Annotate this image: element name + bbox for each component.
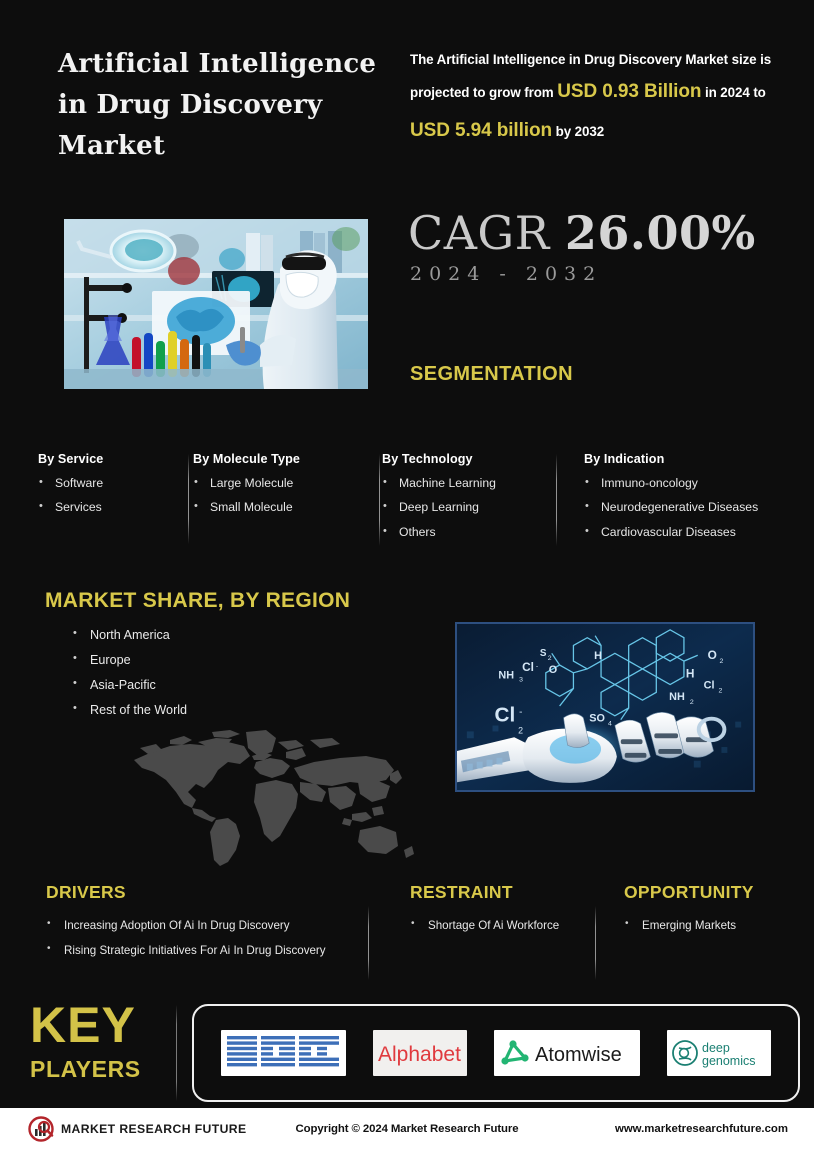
list-item: Small Molecule <box>193 501 373 514</box>
cagr-value: CAGR 26.00% <box>408 206 756 260</box>
list-item: Immuno-oncology <box>584 477 799 490</box>
cagr-percent: 26.00% <box>565 206 756 260</box>
blurb-part-3: by 2032 <box>556 124 604 139</box>
list-item: Machine Learning <box>382 477 572 490</box>
key-players-line2: PLAYERS <box>30 1056 170 1083</box>
infographic-page: Artificial Intelligence in Drug Discover… <box>0 0 814 1150</box>
atomwise-logo: Atomwise <box>494 1030 640 1076</box>
alphabet-logo: Alphabet <box>373 1030 467 1076</box>
svg-text:-: - <box>519 707 522 718</box>
copyright-text: Copyright © 2024 Market Research Future <box>296 1123 519 1135</box>
svg-text:-: - <box>536 663 538 670</box>
region-list: North America Europe Asia-Pacific Rest o… <box>72 628 187 728</box>
column-divider <box>368 906 369 980</box>
deep-genomics-logo: deep genomics <box>667 1030 771 1076</box>
list-item: Cardiovascular Diseases <box>584 526 799 539</box>
segmentation-heading: SEGMENTATION <box>410 363 573 386</box>
cagr-label: CAGR <box>408 206 550 260</box>
blurb-part-2: in 2024 to <box>705 85 766 100</box>
svg-text:NH: NH <box>498 670 514 682</box>
ibm-logo <box>221 1030 346 1076</box>
list-item: Deep Learning <box>382 501 572 514</box>
column-divider <box>556 454 557 546</box>
segment-list: Immuno-oncology Neurodegenerative Diseas… <box>584 477 799 539</box>
svg-text:H: H <box>686 668 695 681</box>
footer: MARKET RESEARCH FUTURE Copyright © 2024 … <box>0 1108 814 1150</box>
robotic-hand-image: NH 3 Cl - S 2 O H H O 2 Cl 2 NH 2 Cl - 2… <box>455 622 755 792</box>
drivers-column: DRIVERS Increasing Adoption Of Ai In Dru… <box>46 882 376 970</box>
segment-heading: By Molecule Type <box>193 452 373 466</box>
dro-heading: OPPORTUNITY <box>624 882 814 903</box>
segment-list: Software Services <box>38 477 178 515</box>
svg-text:Cl: Cl <box>704 679 715 691</box>
list-item: Rest of the World <box>72 703 187 718</box>
list-item: Large Molecule <box>193 477 373 490</box>
list-item: Rising Strategic Initiatives For Ai In D… <box>46 944 376 957</box>
list-item: Increasing Adoption Of Ai In Drug Discov… <box>46 919 376 932</box>
segment-by-service: By Service Software Services <box>38 452 178 526</box>
segment-list: Large Molecule Small Molecule <box>193 477 373 515</box>
svg-text:NH: NH <box>669 691 685 703</box>
column-divider <box>188 454 189 544</box>
segment-heading: By Indication <box>584 452 799 466</box>
svg-text:2: 2 <box>719 658 723 665</box>
segment-list: Machine Learning Deep Learning Others <box>382 477 572 539</box>
key-players-logo-box: Alphabet Atomwise deep genomics <box>192 1004 800 1102</box>
list-item: Shortage Of Ai Workforce <box>410 919 610 932</box>
list-item: Europe <box>72 653 187 668</box>
svg-text:Atomwise: Atomwise <box>535 1044 622 1066</box>
laboratory-scientist-image <box>64 219 368 389</box>
list-item: Services <box>38 501 178 514</box>
dro-heading: RESTRAINT <box>410 882 610 903</box>
brand-logo: MARKET RESEARCH FUTURE <box>28 1116 247 1142</box>
dro-list: Emerging Markets <box>624 919 814 932</box>
market-size-2024: USD 0.93 Billion <box>557 81 701 102</box>
svg-text:Cl: Cl <box>522 661 534 674</box>
column-divider <box>595 906 596 980</box>
market-size-2032: USD 5.94 billion <box>410 120 552 141</box>
svg-text:H: H <box>594 650 602 662</box>
key-players-divider <box>176 1005 177 1101</box>
segment-by-indication: By Indication Immuno-oncology Neurodegen… <box>584 452 799 550</box>
svg-text:Alphabet: Alphabet <box>378 1043 461 1066</box>
world-map <box>100 722 420 867</box>
key-players-label: KEY PLAYERS <box>30 1002 170 1083</box>
svg-text:2: 2 <box>718 687 722 694</box>
key-players-line1: KEY <box>30 1002 170 1050</box>
list-item: North America <box>72 628 187 643</box>
mrf-circle-icon <box>28 1116 54 1142</box>
segment-heading: By Service <box>38 452 178 466</box>
page-title: Artificial Intelligence in Drug Discover… <box>58 44 388 167</box>
svg-text:genomics: genomics <box>702 1054 756 1068</box>
dro-heading: DRIVERS <box>46 882 376 903</box>
restraint-column: RESTRAINT Shortage Of Ai Workforce <box>410 882 610 944</box>
svg-text:2: 2 <box>548 655 552 662</box>
website-url[interactable]: www.marketresearchfuture.com <box>615 1123 788 1135</box>
segment-heading: By Technology <box>382 452 572 466</box>
segmentation-columns: By Service Software Services By Molecule… <box>38 452 798 554</box>
cagr-year-range: 2024 - 2032 <box>410 263 602 285</box>
brand-name: MARKET RESEARCH FUTURE <box>61 1122 247 1136</box>
list-item: Others <box>382 526 572 539</box>
segment-by-molecule-type: By Molecule Type Large Molecule Small Mo… <box>193 452 373 526</box>
list-item: Emerging Markets <box>624 919 814 932</box>
list-item: Software <box>38 477 178 490</box>
list-item: Asia-Pacific <box>72 678 187 693</box>
svg-text:2: 2 <box>690 699 694 706</box>
market-size-blurb: The Artificial Intelligence in Drug Disc… <box>410 46 802 151</box>
svg-text:S: S <box>540 648 547 659</box>
dro-list: Shortage Of Ai Workforce <box>410 919 610 932</box>
dro-section: DRIVERS Increasing Adoption Of Ai In Dru… <box>38 882 800 980</box>
svg-text:deep: deep <box>702 1041 730 1055</box>
svg-text:3: 3 <box>519 677 523 684</box>
svg-text:Cl: Cl <box>494 704 515 727</box>
market-share-heading: MARKET SHARE, BY REGION <box>45 589 350 613</box>
opportunity-column: OPPORTUNITY Emerging Markets <box>624 882 814 944</box>
dro-list: Increasing Adoption Of Ai In Drug Discov… <box>46 919 376 958</box>
svg-text:O: O <box>708 649 717 662</box>
segment-by-technology: By Technology Machine Learning Deep Lear… <box>382 452 572 550</box>
column-divider <box>379 454 380 546</box>
svg-text:O: O <box>549 664 557 676</box>
list-item: Neurodegenerative Diseases <box>584 501 799 514</box>
svg-text:2: 2 <box>518 725 523 735</box>
